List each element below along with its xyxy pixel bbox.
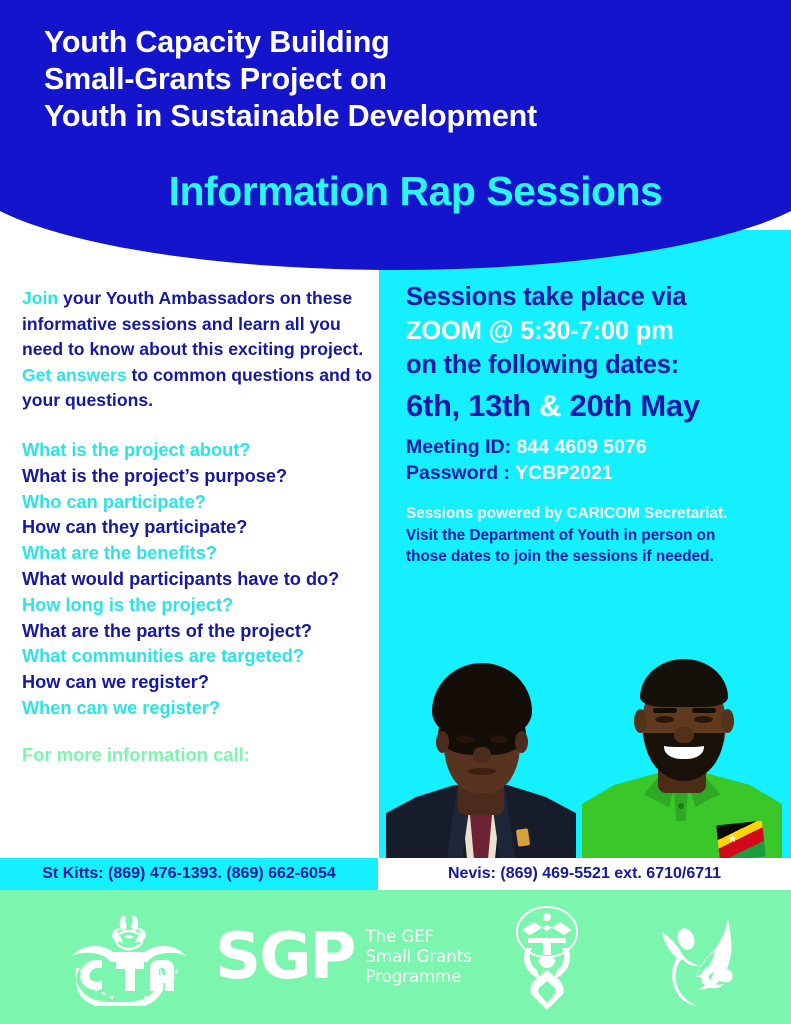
portrait-photo-suit bbox=[386, 641, 576, 859]
password-label: Password : bbox=[406, 462, 510, 484]
note-line-1-powered-by: Sessions powered by CARICOM Secretariat. bbox=[406, 505, 727, 522]
department-of-youth-logo bbox=[508, 904, 586, 1012]
ear-right bbox=[515, 731, 528, 753]
session-dates: 6th, 13th & 20th May bbox=[406, 388, 784, 424]
right-content-column: Sessions take place via ZOOM @ 5:30-7:00… bbox=[406, 280, 784, 568]
list-item: Who can participate? bbox=[22, 490, 374, 516]
intro-text-1: your Youth Ambassadors on these informat… bbox=[22, 288, 363, 359]
ear-left bbox=[436, 731, 449, 753]
header-title-line-1: Youth Capacity Building bbox=[44, 24, 764, 61]
sessions-line-3: on the following dates: bbox=[406, 351, 679, 379]
eye-left bbox=[655, 716, 674, 723]
ear-left bbox=[634, 709, 647, 733]
eye-left bbox=[456, 736, 474, 743]
list-item: What is the project’s purpose? bbox=[22, 464, 374, 490]
st-kitts-flag-patch bbox=[716, 821, 766, 859]
list-item: How can we register? bbox=[22, 670, 374, 696]
nose bbox=[473, 747, 491, 763]
gef-line-3: Programme bbox=[366, 967, 462, 986]
intro-highlight-join: Join bbox=[22, 288, 58, 308]
questions-list: What is the project about? What is the p… bbox=[22, 438, 374, 722]
list-item: When can we register? bbox=[22, 696, 374, 722]
contact-bar: St Kitts: (869) 476-1393. (869) 662-6054… bbox=[0, 858, 791, 890]
contact-st-kitts-text: St Kitts: (869) 476-1393. (869) 662-6054 bbox=[42, 865, 336, 883]
password-value: YCBP2021 bbox=[515, 462, 613, 484]
sgp-mark-text: SGP bbox=[215, 925, 355, 989]
intro-paragraph: Join your Youth Ambassadors on these inf… bbox=[22, 286, 374, 414]
portrait-photos-group bbox=[382, 638, 791, 859]
eyebrow-right bbox=[488, 728, 510, 733]
meeting-credentials: Meeting ID: 844 4609 5076 Password : YCB… bbox=[406, 434, 784, 486]
note-line-2: Visit the Department of Youth in person … bbox=[406, 527, 715, 544]
sessions-line-2-zoom-time: ZOOM @ 5:30-7:00 pm bbox=[406, 317, 674, 345]
intro-highlight-get-answers: Get answers bbox=[22, 365, 127, 385]
dates-part-1: 6th, 13th bbox=[406, 388, 539, 423]
sgp-logo: SGP The GEF Small Grants Programme bbox=[215, 914, 485, 1000]
header-title-line-2: Small-Grants Project on bbox=[44, 61, 764, 98]
eye-right bbox=[490, 736, 508, 743]
more-information-callout: For more information call: bbox=[22, 744, 374, 766]
gef-line-2: Small Grants bbox=[366, 947, 472, 966]
header-subtitle: Information Rap Sessions bbox=[0, 168, 791, 215]
contact-st-kitts[interactable]: St Kitts: (869) 476-1393. (869) 662-6054 bbox=[0, 858, 378, 890]
dates-part-2: 20th May bbox=[561, 388, 700, 423]
footer-logo-bar: SGP The GEF Small Grants Programme bbox=[0, 890, 791, 1024]
header-banner: Youth Capacity Building Small-Grants Pro… bbox=[0, 0, 791, 270]
header-title-block: Youth Capacity Building Small-Grants Pro… bbox=[44, 24, 764, 135]
list-item: What communities are targeted? bbox=[22, 644, 374, 670]
list-item: What is the project about? bbox=[22, 438, 374, 464]
flyer-poster: Youth Capacity Building Small-Grants Pro… bbox=[0, 0, 791, 1024]
afro-hair bbox=[432, 663, 532, 741]
dates-ampersand: & bbox=[539, 388, 561, 423]
portrait-photo-polo bbox=[582, 638, 782, 859]
list-item: How can they participate? bbox=[22, 515, 374, 541]
ear-right bbox=[721, 709, 734, 733]
list-item: What are the parts of the project? bbox=[22, 619, 374, 645]
contact-nevis[interactable]: Nevis: (869) 469-5521 ext. 6710/6711 bbox=[378, 858, 791, 890]
list-item: How long is the project? bbox=[22, 593, 374, 619]
session-note: Sessions powered by CARICOM Secretariat.… bbox=[406, 503, 784, 568]
gef-wordmark: The GEF Small Grants Programme bbox=[366, 927, 472, 987]
lapel-pin bbox=[516, 828, 530, 847]
header-title-line-3: Youth in Sustainable Development bbox=[44, 98, 764, 135]
eye-right bbox=[694, 716, 713, 723]
nose bbox=[674, 727, 694, 743]
cya-logo bbox=[62, 910, 197, 1006]
short-hair bbox=[640, 659, 728, 707]
meeting-id-value: 844 4609 5076 bbox=[517, 436, 647, 458]
sessions-line-1: Sessions take place via bbox=[406, 283, 686, 311]
meeting-id-label: Meeting ID: bbox=[406, 436, 511, 458]
left-content-column: Join your Youth Ambassadors on these inf… bbox=[22, 286, 374, 766]
list-item: What would participants have to do? bbox=[22, 567, 374, 593]
eyebrow-left bbox=[653, 708, 677, 713]
note-line-3: those dates to join the sessions if need… bbox=[406, 548, 714, 565]
eyebrow-left bbox=[454, 728, 476, 733]
mouth bbox=[468, 768, 496, 775]
contact-nevis-text: Nevis: (869) 469-5521 ext. 6710/6711 bbox=[448, 865, 721, 883]
youth-ambassadors-logo bbox=[650, 910, 746, 1008]
list-item: What are the benefits? bbox=[22, 541, 374, 567]
polo-button-bottom bbox=[678, 803, 684, 809]
sessions-info: Sessions take place via ZOOM @ 5:30-7:00… bbox=[406, 280, 784, 382]
eyebrow-right bbox=[692, 708, 716, 713]
gef-line-1: The GEF bbox=[366, 927, 435, 946]
